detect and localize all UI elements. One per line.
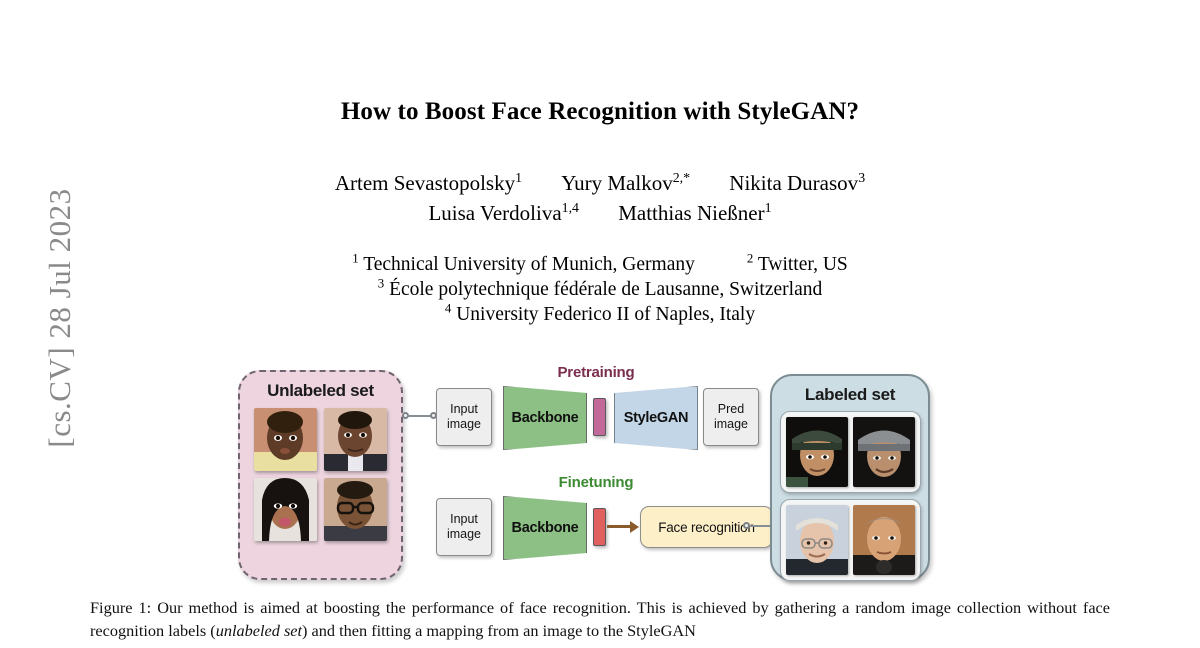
author-list: Artem Sevastopolsky1 Yury Malkov2,* Niki… bbox=[90, 168, 1110, 228]
author: Matthias Nießner1 bbox=[618, 198, 771, 228]
author-row: Artem Sevastopolsky1 Yury Malkov2,* Niki… bbox=[90, 168, 1110, 198]
affiliation-text: École polytechnique fédérale de Lausanne… bbox=[389, 279, 822, 300]
face-thumbnail bbox=[324, 478, 387, 541]
affiliation-marker: 1 bbox=[352, 252, 358, 266]
arxiv-stamp-text: [cs.CV] 28 Jul 2023 bbox=[42, 0, 78, 638]
unlabeled-set-panel: Unlabeled set bbox=[238, 370, 403, 580]
pretraining-row: Pretraining Input image Backbone StyleGA… bbox=[421, 364, 771, 456]
stylegan-label: StyleGAN bbox=[624, 410, 688, 426]
face-thumbnail bbox=[324, 408, 387, 471]
affiliation: 2 Twitter, US bbox=[747, 252, 848, 277]
affiliation-text: Technical University of Munich, Germany bbox=[363, 254, 695, 275]
embedding-arrow-line bbox=[607, 525, 631, 528]
finetuning-input-image-box: Input image bbox=[436, 498, 492, 556]
affiliation: 1 Technical University of Munich, German… bbox=[352, 252, 695, 277]
face-thumbnail bbox=[853, 505, 915, 575]
figure-caption: Figure 1: Our method is aimed at boostin… bbox=[90, 596, 1110, 642]
affiliation-row: 1 Technical University of Munich, German… bbox=[90, 252, 1110, 277]
author-name: Artem Sevastopolsky bbox=[335, 171, 515, 195]
arxiv-stamp: [cs.CV] 28 Jul 2023 bbox=[0, 0, 70, 648]
face-thumbnail bbox=[786, 417, 848, 487]
author-affiliation-marker: 3 bbox=[858, 170, 865, 185]
face-thumbnail bbox=[254, 478, 317, 541]
face-recognition-label: Face recognition bbox=[658, 520, 755, 535]
affiliation-marker: 3 bbox=[378, 277, 384, 291]
author-affiliation-marker: 2,* bbox=[673, 170, 690, 185]
author-name: Matthias Nießner bbox=[618, 201, 764, 225]
labeled-set-panel: Labeled set bbox=[770, 374, 930, 581]
labeled-face-pair-group bbox=[780, 499, 921, 581]
affiliation-marker: 4 bbox=[445, 302, 451, 316]
input-image-line2: image bbox=[447, 527, 481, 542]
affiliation-row: 4 University Federico II of Naples, Ital… bbox=[90, 302, 1110, 327]
author: Luisa Verdoliva1,4 bbox=[428, 198, 579, 228]
pretraining-latent-bar bbox=[593, 398, 606, 436]
author-affiliation-marker: 1 bbox=[515, 170, 522, 185]
affiliation-list: 1 Technical University of Munich, German… bbox=[90, 252, 1110, 327]
figure-1: Unlabeled set bbox=[90, 362, 1110, 592]
affiliation-text: Twitter, US bbox=[758, 254, 848, 275]
pred-image-box: Pred image bbox=[703, 388, 759, 446]
affiliation-text: University Federico II of Naples, Italy bbox=[456, 304, 755, 325]
finetuning-latent-bar bbox=[593, 508, 606, 546]
pred-image-line2: image bbox=[714, 417, 748, 432]
input-image-line2: image bbox=[447, 417, 481, 432]
finetuning-row: Finetuning Input image Backbone Face rec… bbox=[421, 474, 771, 566]
pred-image-line1: Pred bbox=[718, 402, 744, 417]
author-row: Luisa Verdoliva1,4 Matthias Nießner1 bbox=[90, 198, 1110, 228]
author-name: Nikita Durasov bbox=[729, 171, 858, 195]
unlabeled-face-grid bbox=[254, 408, 387, 541]
labeled-face-pair-group bbox=[780, 411, 921, 493]
connector-dot bbox=[743, 522, 750, 529]
author-name: Yury Malkov bbox=[561, 171, 672, 195]
author-affiliation-marker: 1,4 bbox=[562, 200, 579, 215]
connector-line bbox=[748, 525, 772, 527]
stylegan-block: StyleGAN bbox=[614, 386, 698, 450]
affiliation-row: 3 École polytechnique fédérale de Lausan… bbox=[90, 277, 1110, 302]
input-image-line1: Input bbox=[450, 402, 478, 417]
author: Nikita Durasov3 bbox=[729, 168, 865, 198]
face-recognition-box: Face recognition bbox=[640, 506, 773, 548]
unlabeled-set-title: Unlabeled set bbox=[240, 372, 401, 401]
finetuning-backbone-block: Backbone bbox=[503, 496, 587, 560]
page-title: How to Boost Face Recognition with Style… bbox=[90, 0, 1110, 126]
face-thumbnail bbox=[254, 408, 317, 471]
embedding-arrow-head-icon bbox=[630, 521, 639, 533]
face-thumbnail bbox=[853, 417, 915, 487]
face-thumbnail bbox=[786, 505, 848, 575]
author: Yury Malkov2,* bbox=[561, 168, 690, 198]
author: Artem Sevastopolsky1 bbox=[335, 168, 522, 198]
pretraining-input-image-box: Input image bbox=[436, 388, 492, 446]
pretraining-stage-label: Pretraining bbox=[421, 364, 771, 381]
figure-caption-italic: unlabeled set bbox=[216, 621, 302, 640]
paper-column: How to Boost Face Recognition with Style… bbox=[90, 0, 1110, 648]
pretraining-backbone-block: Backbone bbox=[503, 386, 587, 450]
input-image-line1: Input bbox=[450, 512, 478, 527]
figure-caption-label: Figure 1: bbox=[90, 598, 151, 617]
affiliation-marker: 2 bbox=[747, 252, 753, 266]
backbone-label: Backbone bbox=[512, 520, 579, 536]
author-affiliation-marker: 1 bbox=[765, 200, 772, 215]
labeled-set-title: Labeled set bbox=[772, 376, 928, 405]
figure-caption-part2: ) and then fitting a mapping from an ima… bbox=[302, 621, 696, 640]
author-name: Luisa Verdoliva bbox=[428, 201, 561, 225]
affiliation: 4 University Federico II of Naples, Ital… bbox=[445, 302, 755, 327]
figure-diagram: Unlabeled set bbox=[238, 362, 948, 590]
backbone-label: Backbone bbox=[512, 410, 579, 426]
affiliation: 3 École polytechnique fédérale de Lausan… bbox=[378, 277, 822, 302]
finetuning-stage-label: Finetuning bbox=[421, 474, 771, 491]
